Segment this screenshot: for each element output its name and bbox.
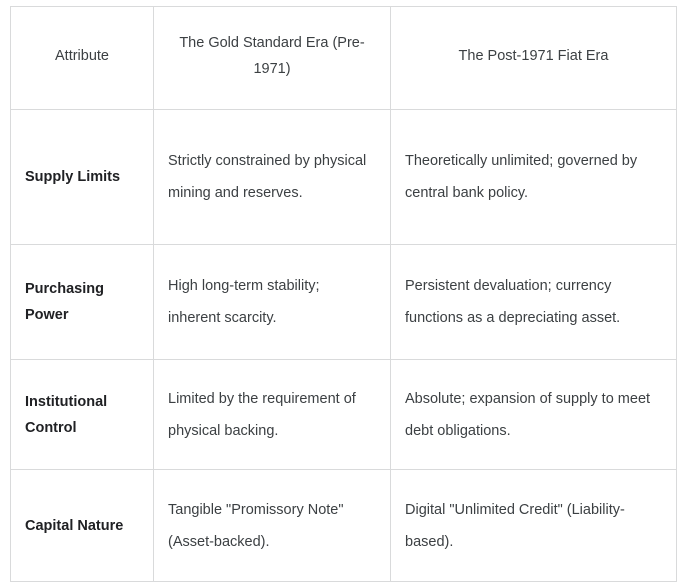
cell-institutional-control-fiat: Absolute; expansion of supply to meet de…	[391, 360, 677, 470]
cell-purchasing-power-fiat: Persistent devaluation; currency functio…	[391, 245, 677, 360]
row-label-supply-limits: Supply Limits	[11, 110, 154, 245]
column-header-post-1971-fiat-era: The Post-1971 Fiat Era	[391, 7, 677, 110]
column-header-gold-standard-era: The Gold Standard Era (Pre-1971)	[154, 7, 391, 110]
page-root: Attribute The Gold Standard Era (Pre-197…	[0, 0, 691, 482]
table-body: Supply Limits Strictly constrained by ph…	[11, 110, 677, 582]
row-label-purchasing-power: Purchasing Power	[11, 245, 154, 360]
table-header: Attribute The Gold Standard Era (Pre-197…	[11, 7, 677, 110]
table-header-row: Attribute The Gold Standard Era (Pre-197…	[11, 7, 677, 110]
cell-capital-nature-gold: Tangible "Promissory Note" (Asset-backed…	[154, 470, 391, 582]
row-label-institutional-control: Institutional Control	[11, 360, 154, 470]
cell-institutional-control-gold: Limited by the requirement of physical b…	[154, 360, 391, 470]
table-row: Capital Nature Tangible "Promissory Note…	[11, 470, 677, 582]
table-row: Supply Limits Strictly constrained by ph…	[11, 110, 677, 245]
cell-supply-limits-gold: Strictly constrained by physical mining …	[154, 110, 391, 245]
cell-capital-nature-fiat: Digital "Unlimited Credit" (Liability-ba…	[391, 470, 677, 582]
column-header-attribute: Attribute	[11, 7, 154, 110]
table-row: Purchasing Power High long-term stabilit…	[11, 245, 677, 360]
row-label-capital-nature: Capital Nature	[11, 470, 154, 582]
comparison-table-container: Attribute The Gold Standard Era (Pre-197…	[10, 6, 676, 582]
cell-supply-limits-fiat: Theoretically unlimited; governed by cen…	[391, 110, 677, 245]
table-row: Institutional Control Limited by the req…	[11, 360, 677, 470]
cell-purchasing-power-gold: High long-term stability; inherent scarc…	[154, 245, 391, 360]
comparison-table: Attribute The Gold Standard Era (Pre-197…	[10, 6, 677, 582]
